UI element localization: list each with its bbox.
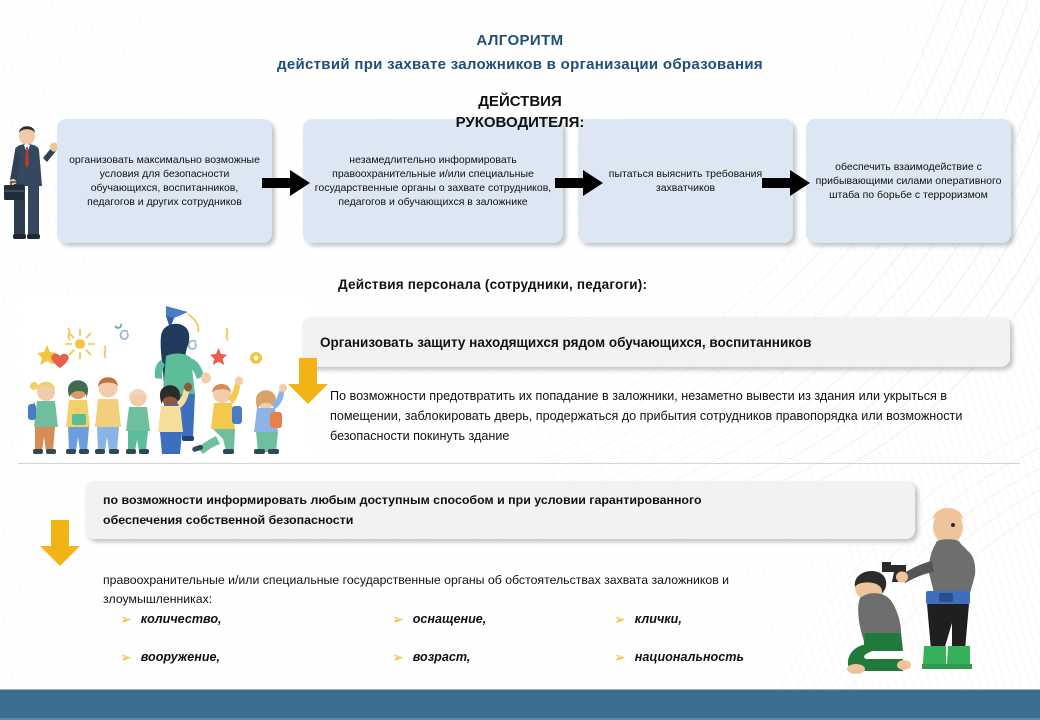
list-item-label: оснащение, <box>413 612 487 626</box>
authorities-detail-text: правоохранительные и/или специальные гос… <box>103 571 803 609</box>
hostage-and-captor-illustration <box>840 505 1000 685</box>
list-item-label: вооружение, <box>141 650 220 664</box>
list-item: ➢ оснащение, <box>392 612 614 626</box>
arrow-right-icon <box>262 170 310 196</box>
page-subtitle: действий при захвате заложников в органи… <box>0 56 1040 73</box>
list-item: ➢ национальность <box>614 650 860 664</box>
arrow-right-icon <box>555 170 603 196</box>
section-divider <box>18 463 1020 464</box>
businessman-illustration <box>2 112 64 240</box>
arrow-bullet-icon: ➢ <box>392 650 404 664</box>
list-item-label: количество, <box>141 612 222 626</box>
arrow-down-icon <box>40 520 80 566</box>
arrow-down-icon <box>288 358 328 404</box>
director-actions-heading: ДЕЙСТВИЯ РУКОВОДИТЕЛЯ: <box>360 91 680 133</box>
arrow-bullet-icon: ➢ <box>120 612 132 626</box>
list-item: ➢ вооружение, <box>120 650 392 664</box>
list-item: ➢ возраст, <box>392 650 614 664</box>
page-title: АЛГОРИТМ <box>0 32 1040 49</box>
teacher-and-children-illustration <box>20 296 308 458</box>
arrow-bullet-icon: ➢ <box>614 612 626 626</box>
arrow-bullet-icon: ➢ <box>392 612 404 626</box>
list-item-label: национальность <box>635 650 744 664</box>
staff-actions-heading: Действия персонала (сотрудники, педагоги… <box>338 277 647 292</box>
footer-bar <box>0 689 1040 720</box>
list-item: ➢ количество, <box>120 612 392 626</box>
director-step-box-4[interactable]: обеспечить взаимодействие с прибывающими… <box>806 119 1011 243</box>
director-heading-line-1: ДЕЙСТВИЯ <box>478 93 562 110</box>
arrow-bullet-icon: ➢ <box>120 650 132 664</box>
director-heading-line-2: РУКОВОДИТЕЛЯ: <box>456 114 585 131</box>
list-item-label: возраст, <box>413 650 471 664</box>
director-step-box-2[interactable]: незамедлительно информировать правоохран… <box>303 119 563 243</box>
protect-students-box[interactable]: Организовать защиту находящихся рядом об… <box>302 317 1010 367</box>
director-step-box-3[interactable]: пытаться выяснить требования захватчиков <box>578 119 793 243</box>
director-step-box-1[interactable]: организовать максимально возможные услов… <box>57 119 272 243</box>
arrow-right-icon <box>762 170 810 196</box>
arrow-bullet-icon: ➢ <box>614 650 626 664</box>
details-bullet-list: ➢ количество, ➢ оснащение, ➢ клички, ➢ в… <box>120 612 860 664</box>
staff-body-paragraph: По возможности предотвратить их попадани… <box>330 386 1020 446</box>
list-item-label: клички, <box>635 612 682 626</box>
list-item: ➢ клички, <box>614 612 860 626</box>
inform-authorities-text: по возможности информировать любым досту… <box>103 490 903 530</box>
